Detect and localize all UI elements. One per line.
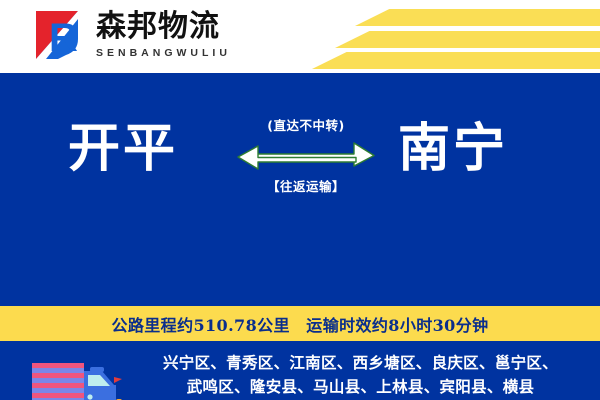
- stripe-3: [312, 52, 600, 69]
- brand-name-cn: 森邦物流: [96, 11, 231, 43]
- info-band: 公路里程约510.78公里 运输时效约8小时30分钟: [0, 306, 600, 341]
- senbang-r-logo-icon: R: [28, 9, 86, 61]
- coverage-line-2: 武鸣区、隆安县、马山县、上林县、宾阳县、横县: [133, 375, 588, 399]
- direct-route-note: (直达不中转): [236, 115, 376, 134]
- destination-city: 南宁: [398, 123, 508, 175]
- origin-city: 开平: [68, 123, 178, 175]
- main-blue-panel: 开平 (直达不中转) 【往返运输】 南宁 公路里程约510.78公里 运输时效约…: [0, 73, 600, 400]
- stripe-2: [335, 31, 600, 48]
- coverage-area-list: 兴宁区、青秀区、江南区、西乡塘区、良庆区、邕宁区、 武鸣区、隆安县、马山县、上林…: [133, 351, 588, 398]
- route-section: 开平 (直达不中转) 【往返运输】 南宁: [0, 73, 600, 233]
- brand-name-en: SENBANGWULIU: [96, 47, 231, 59]
- stripe-1: [355, 9, 600, 26]
- brand-logo[interactable]: R 森邦物流 SENBANGWULIU: [28, 9, 231, 61]
- header-bar: R 森邦物流 SENBANGWULIU: [0, 0, 600, 73]
- distance-duration-text: 公路里程约510.78公里 运输时效约8小时30分钟: [111, 312, 488, 336]
- decorative-stripes: [310, 0, 600, 73]
- round-trip-note: 【往返运输】: [236, 176, 376, 195]
- double-arrow-icon: [236, 138, 376, 172]
- brand-text: 森邦物流 SENBANGWULIU: [96, 11, 231, 58]
- coverage-line-1: 兴宁区、青秀区、江南区、西乡塘区、良庆区、邕宁区、: [133, 351, 588, 375]
- svg-text:R: R: [49, 16, 78, 60]
- delivery-truck-icon: [28, 357, 126, 400]
- logistics-route-banner: R 森邦物流 SENBANGWULIU 开平 (直达不中转): [0, 0, 600, 400]
- route-middle: (直达不中转) 【往返运输】: [236, 115, 376, 195]
